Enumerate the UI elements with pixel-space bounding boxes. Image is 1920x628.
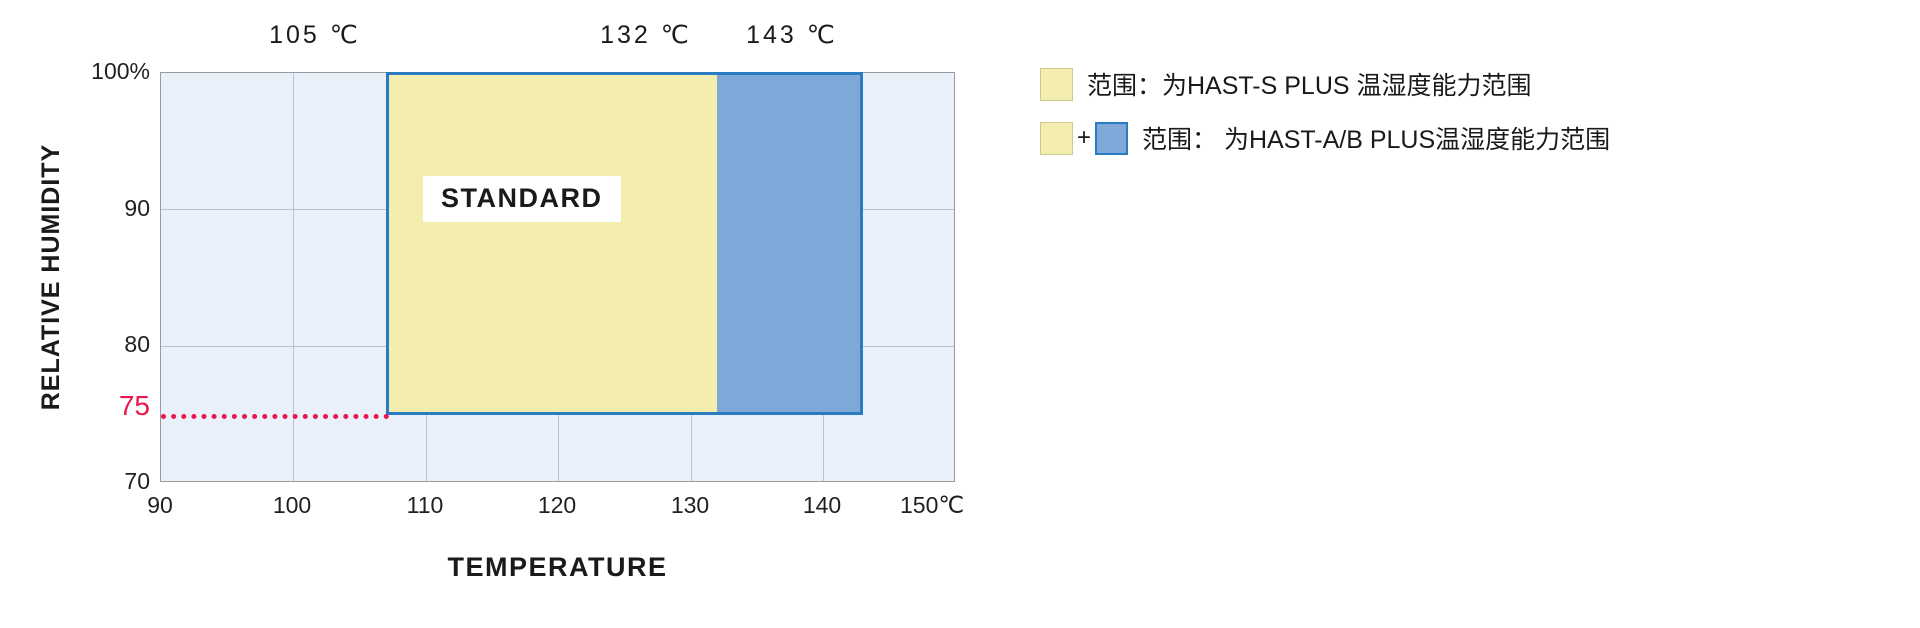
x-tick-label-150: 150℃	[900, 492, 1010, 519]
top-callout-143: 143 ℃	[692, 20, 892, 50]
x-tick-label-90: 90	[110, 492, 210, 519]
chart-page: 105 ℃ 132 ℃ 143 ℃ RELATIVE HUMIDITY 100%…	[0, 0, 1920, 628]
threshold-line-75	[161, 414, 389, 419]
legend-label-hast-s-plus: 范围：为HAST-S PLUS 温湿度能力范围	[1087, 66, 1532, 102]
legend-swatch-blue	[1095, 122, 1128, 155]
standard-label: STANDARD	[423, 176, 621, 222]
y-tick-label-100: 100%	[0, 58, 150, 85]
x-tick-label-140: 140	[772, 492, 872, 519]
y-tick-label-75-threshold: 75	[0, 390, 150, 422]
region-hast-ab-plus	[717, 73, 863, 414]
y-tick-label-80: 80	[0, 331, 150, 358]
legend-entry-hast-ab-plus: + 范围： 为HAST-A/B PLUS温湿度能力范围	[1040, 116, 1740, 160]
gridline-vertical	[293, 73, 294, 481]
legend-swatch-yellow	[1040, 68, 1073, 101]
x-tick-label-120: 120	[507, 492, 607, 519]
region-hast-s-plus	[386, 73, 717, 414]
x-tick-label-130: 130	[640, 492, 740, 519]
y-tick-label-70: 70	[0, 468, 150, 495]
legend-label-hast-ab-plus: 范围： 为HAST-A/B PLUS温湿度能力范围	[1142, 120, 1610, 156]
legend-entry-hast-s-plus: 范围：为HAST-S PLUS 温湿度能力范围	[1040, 62, 1740, 106]
legend-plus-sign: +	[1077, 126, 1091, 150]
plot-area: STANDARD	[160, 72, 955, 482]
y-tick-label-90: 90	[0, 195, 150, 222]
legend-swatch-yellow	[1040, 122, 1073, 155]
humidity-temperature-chart: 105 ℃ 132 ℃ 143 ℃ RELATIVE HUMIDITY 100%…	[0, 0, 1000, 628]
x-tick-label-110: 110	[375, 492, 475, 519]
top-callout-105: 105 ℃	[215, 20, 415, 50]
x-axis-title: TEMPERATURE	[160, 552, 955, 583]
chart-legend: 范围：为HAST-S PLUS 温湿度能力范围 + 范围： 为HAST-A/B …	[1040, 62, 1740, 170]
x-tick-label-100: 100	[242, 492, 342, 519]
